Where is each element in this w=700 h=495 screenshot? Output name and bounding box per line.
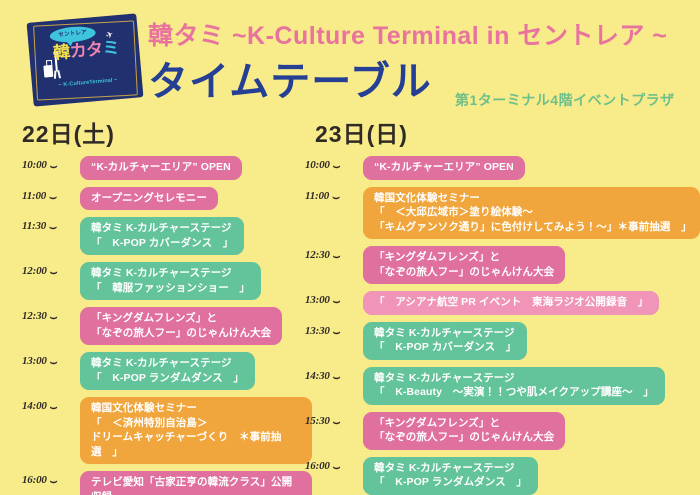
event-time: 11:00⌣	[22, 187, 80, 202]
event-time-value: 11:30	[22, 220, 46, 232]
event-time: 15:30⌣	[305, 412, 363, 427]
event-time: 12:30⌣	[22, 307, 80, 322]
event-pill[interactable]: 韓タミ K-カルチャーステージ 「 K-POP ランダムダンス 」	[363, 457, 538, 495]
timetable-row: 16:00⌣テレビ愛知「古家正亨の韓流クラス」公開収録	[22, 471, 312, 495]
day-heading: 22日(土)	[22, 118, 312, 156]
event-time: 14:00⌣	[22, 397, 80, 412]
timetable-row: 13:00⌣「 アシアナ航空 PR イベント 東海ラジオ公開録音 」	[305, 291, 700, 315]
event-time-value: 13:00	[22, 355, 47, 367]
day-heading: 23日(日)	[305, 118, 700, 156]
event-pill[interactable]: オープニングセレモニー	[80, 187, 218, 211]
swoosh-icon: ⌣	[333, 418, 341, 426]
swoosh-icon: ⌣	[49, 223, 57, 231]
swoosh-icon: ⌣	[50, 268, 58, 276]
timetable-row: 13:00⌣韓タミ K-カルチャーステージ 「 K-POP ランダムダンス 」	[22, 352, 312, 390]
event-pill[interactable]: 「キングダムフレンズ」と 「なぞの旅人フー」のじゃんけん大会	[363, 412, 565, 450]
venue-label: 第1ターミナル4階イベントプラザ	[455, 90, 675, 110]
swoosh-icon: ⌣	[333, 328, 341, 336]
event-pill[interactable]: 韓国文化体験セミナー 「 ＜済州特別自治島＞ ドリームキャッチャーづくり ＊事前…	[80, 397, 312, 464]
event-time: 12:00⌣	[22, 262, 80, 277]
timetable-row: 10:00⌣“K-カルチャーエリア” OPEN	[305, 156, 700, 180]
event-time-value: 16:00	[305, 460, 330, 472]
swoosh-icon: ⌣	[333, 162, 341, 170]
swoosh-icon: ⌣	[333, 252, 341, 260]
event-time-value: 10:00	[22, 159, 47, 171]
event-time-value: 15:30	[305, 415, 330, 427]
event-time: 10:00⌣	[22, 156, 80, 171]
logo-wordmark: 韓カタミ	[45, 38, 130, 81]
timetable: 22日(土)10:00⌣“K-カルチャーエリア” OPEN11:00⌣オープニン…	[0, 118, 700, 495]
day-column-22: 22日(土)10:00⌣“K-カルチャーエリア” OPEN11:00⌣オープニン…	[22, 118, 312, 495]
event-pill[interactable]: 韓国文化体験セミナー 「 ＜大邱広域市＞塗り絵体験～ 「キムグァンソク通り」に色…	[363, 187, 700, 240]
event-pill[interactable]: 韓タミ K-カルチャーステージ 「 K-POP カバーダンス 」	[80, 217, 244, 255]
event-time: 13:00⌣	[305, 291, 363, 306]
swoosh-icon: ⌣	[50, 477, 58, 485]
swoosh-icon: ⌣	[49, 193, 57, 201]
event-time-value: 12:00	[22, 265, 47, 277]
timetable-row: 11:30⌣韓タミ K-カルチャーステージ 「 K-POP カバーダンス 」	[22, 217, 312, 255]
timetable-row: 11:00⌣韓国文化体験セミナー 「 ＜大邱広域市＞塗り絵体験～ 「キムグァンソ…	[305, 187, 700, 240]
swoosh-icon: ⌣	[50, 313, 58, 321]
event-time: 14:30⌣	[305, 367, 363, 382]
logo-char-mi: ミ	[102, 38, 120, 58]
event-pill[interactable]: 「キングダムフレンズ」と 「なぞの旅人フー」のじゃんけん大会	[363, 246, 565, 284]
event-subtitle: 韓タミ ~K-Culture Terminal in セントレア ~	[148, 16, 667, 52]
event-time: 11:00⌣	[305, 187, 363, 202]
swoosh-icon: ⌣	[332, 193, 340, 201]
event-time-value: 14:30	[305, 370, 330, 382]
timetable-row: 10:00⌣“K-カルチャーエリア” OPEN	[22, 156, 312, 180]
event-time-value: 16:00	[22, 474, 47, 486]
event-time-value: 11:00	[22, 190, 46, 202]
event-time: 11:30⌣	[22, 217, 80, 232]
event-time-value: 11:00	[305, 190, 329, 202]
swoosh-icon: ⌣	[333, 297, 341, 305]
event-logo: セントレア ✈ 韓カタミ ~ K-CultureTerminal ~	[26, 12, 144, 108]
timetable-row: 12:30⌣「キングダムフレンズ」と 「なぞの旅人フー」のじゃんけん大会	[22, 307, 312, 345]
event-time: 16:00⌣	[22, 471, 80, 486]
event-time: 16:00⌣	[305, 457, 363, 472]
event-time-value: 12:30	[22, 310, 47, 322]
logo-contents: セントレア ✈ 韓カタミ ~ K-CultureTerminal ~	[27, 13, 144, 106]
event-pill[interactable]: 「キングダムフレンズ」と 「なぞの旅人フー」のじゃんけん大会	[80, 307, 282, 345]
swoosh-icon: ⌣	[333, 463, 341, 471]
timetable-row: 14:00⌣韓国文化体験セミナー 「 ＜済州特別自治島＞ ドリームキャッチャーづ…	[22, 397, 312, 464]
timetable-row: 14:30⌣韓タミ K-カルチャーステージ 「 K-Beauty ～実演！！つや…	[305, 367, 700, 405]
event-time-value: 13:30	[305, 325, 330, 337]
event-time-value: 14:00	[22, 400, 47, 412]
event-pill[interactable]: 韓タミ K-カルチャーステージ 「 韓服ファッションショー 」	[80, 262, 261, 300]
event-pill[interactable]: “K-カルチャーエリア” OPEN	[363, 156, 525, 180]
day-column-23: 23日(日)10:00⌣“K-カルチャーエリア” OPEN11:00⌣韓国文化体…	[305, 118, 700, 495]
logo-char-kan: 韓	[52, 42, 70, 62]
event-pill[interactable]: 韓タミ K-カルチャーステージ 「 K-POP カバーダンス 」	[363, 322, 527, 360]
swoosh-icon: ⌣	[50, 162, 58, 170]
timetable-row: 15:30⌣「キングダムフレンズ」と 「なぞの旅人フー」のじゃんけん大会	[305, 412, 700, 450]
swoosh-icon: ⌣	[50, 358, 58, 366]
timetable-row: 16:00⌣韓タミ K-カルチャーステージ 「 K-POP ランダムダンス 」	[305, 457, 700, 495]
event-time-value: 10:00	[305, 159, 330, 171]
page-title: タイムテーブル	[148, 49, 432, 107]
swoosh-icon: ⌣	[50, 403, 58, 411]
event-time-value: 12:30	[305, 249, 330, 261]
event-time: 12:30⌣	[305, 246, 363, 261]
event-pill[interactable]: 「 アシアナ航空 PR イベント 東海ラジオ公開録音 」	[363, 291, 659, 315]
event-time-value: 13:00	[305, 294, 330, 306]
timetable-row: 13:30⌣韓タミ K-カルチャーステージ 「 K-POP カバーダンス 」	[305, 322, 700, 360]
logo-char-kata: カタ	[69, 39, 104, 61]
timetable-row: 12:30⌣「キングダムフレンズ」と 「なぞの旅人フー」のじゃんけん大会	[305, 246, 700, 284]
event-time: 10:00⌣	[305, 156, 363, 171]
event-pill[interactable]: テレビ愛知「古家正亨の韓流クラス」公開収録	[80, 471, 312, 495]
event-pill[interactable]: “K-カルチャーエリア” OPEN	[80, 156, 242, 180]
timetable-row: 12:00⌣韓タミ K-カルチャーステージ 「 韓服ファッションショー 」	[22, 262, 312, 300]
event-time: 13:30⌣	[305, 322, 363, 337]
event-pill[interactable]: 韓タミ K-カルチャーステージ 「 K-Beauty ～実演！！つや肌メイクアッ…	[363, 367, 665, 405]
swoosh-icon: ⌣	[333, 373, 341, 381]
event-pill[interactable]: 韓タミ K-カルチャーステージ 「 K-POP ランダムダンス 」	[80, 352, 255, 390]
event-time: 13:00⌣	[22, 352, 80, 367]
timetable-row: 11:00⌣オープニングセレモニー	[22, 187, 312, 211]
page-header: セントレア ✈ 韓カタミ ~ K-CultureTerminal ~ 韓タミ ~…	[0, 0, 700, 118]
